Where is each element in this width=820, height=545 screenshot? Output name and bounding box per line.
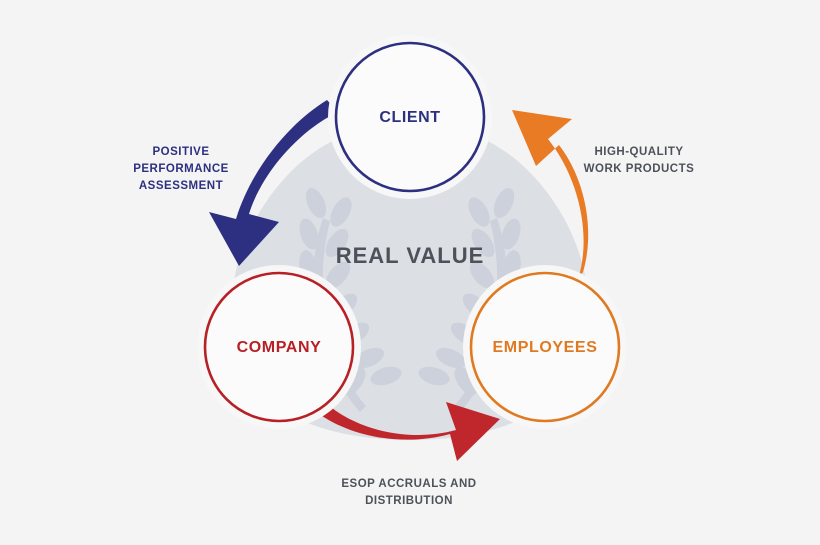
node-client-label: CLIENT (379, 109, 440, 126)
value-cycle-diagram: REAL VALUE CLIENT COMPANY (0, 0, 820, 545)
diagram-canvas: REAL VALUE CLIENT COMPANY (0, 0, 820, 545)
node-employees[interactable]: EMPLOYEES (463, 265, 627, 429)
edge-label-esop-accruals-and-distribution: ESOP ACCRUALS AND DISTRIBUTION (341, 478, 476, 507)
edge-label-high-quality-work-products: HIGH-QUALITY WORK PRODUCTS (584, 146, 695, 175)
node-company-label: COMPANY (237, 339, 322, 356)
edge-label-positive-performance-assessment: POSITIVE PERFORMANCE ASSESSMENT (133, 146, 229, 192)
edge-label-line-2: PERFORMANCE (133, 163, 229, 175)
edge-label-line-3: ASSESSMENT (139, 180, 223, 192)
edge-label-line-1: ESOP ACCRUALS AND (341, 478, 476, 490)
edge-label-line-2: DISTRIBUTION (365, 495, 453, 507)
edge-label-line-1: POSITIVE (152, 146, 209, 158)
edge-label-line-2: WORK PRODUCTS (584, 163, 695, 175)
node-company[interactable]: COMPANY (197, 265, 361, 429)
node-employees-label: EMPLOYEES (493, 339, 598, 356)
center-title: REAL VALUE (336, 243, 485, 268)
node-client[interactable]: CLIENT (328, 35, 492, 199)
edge-label-line-1: HIGH-QUALITY (594, 146, 683, 158)
